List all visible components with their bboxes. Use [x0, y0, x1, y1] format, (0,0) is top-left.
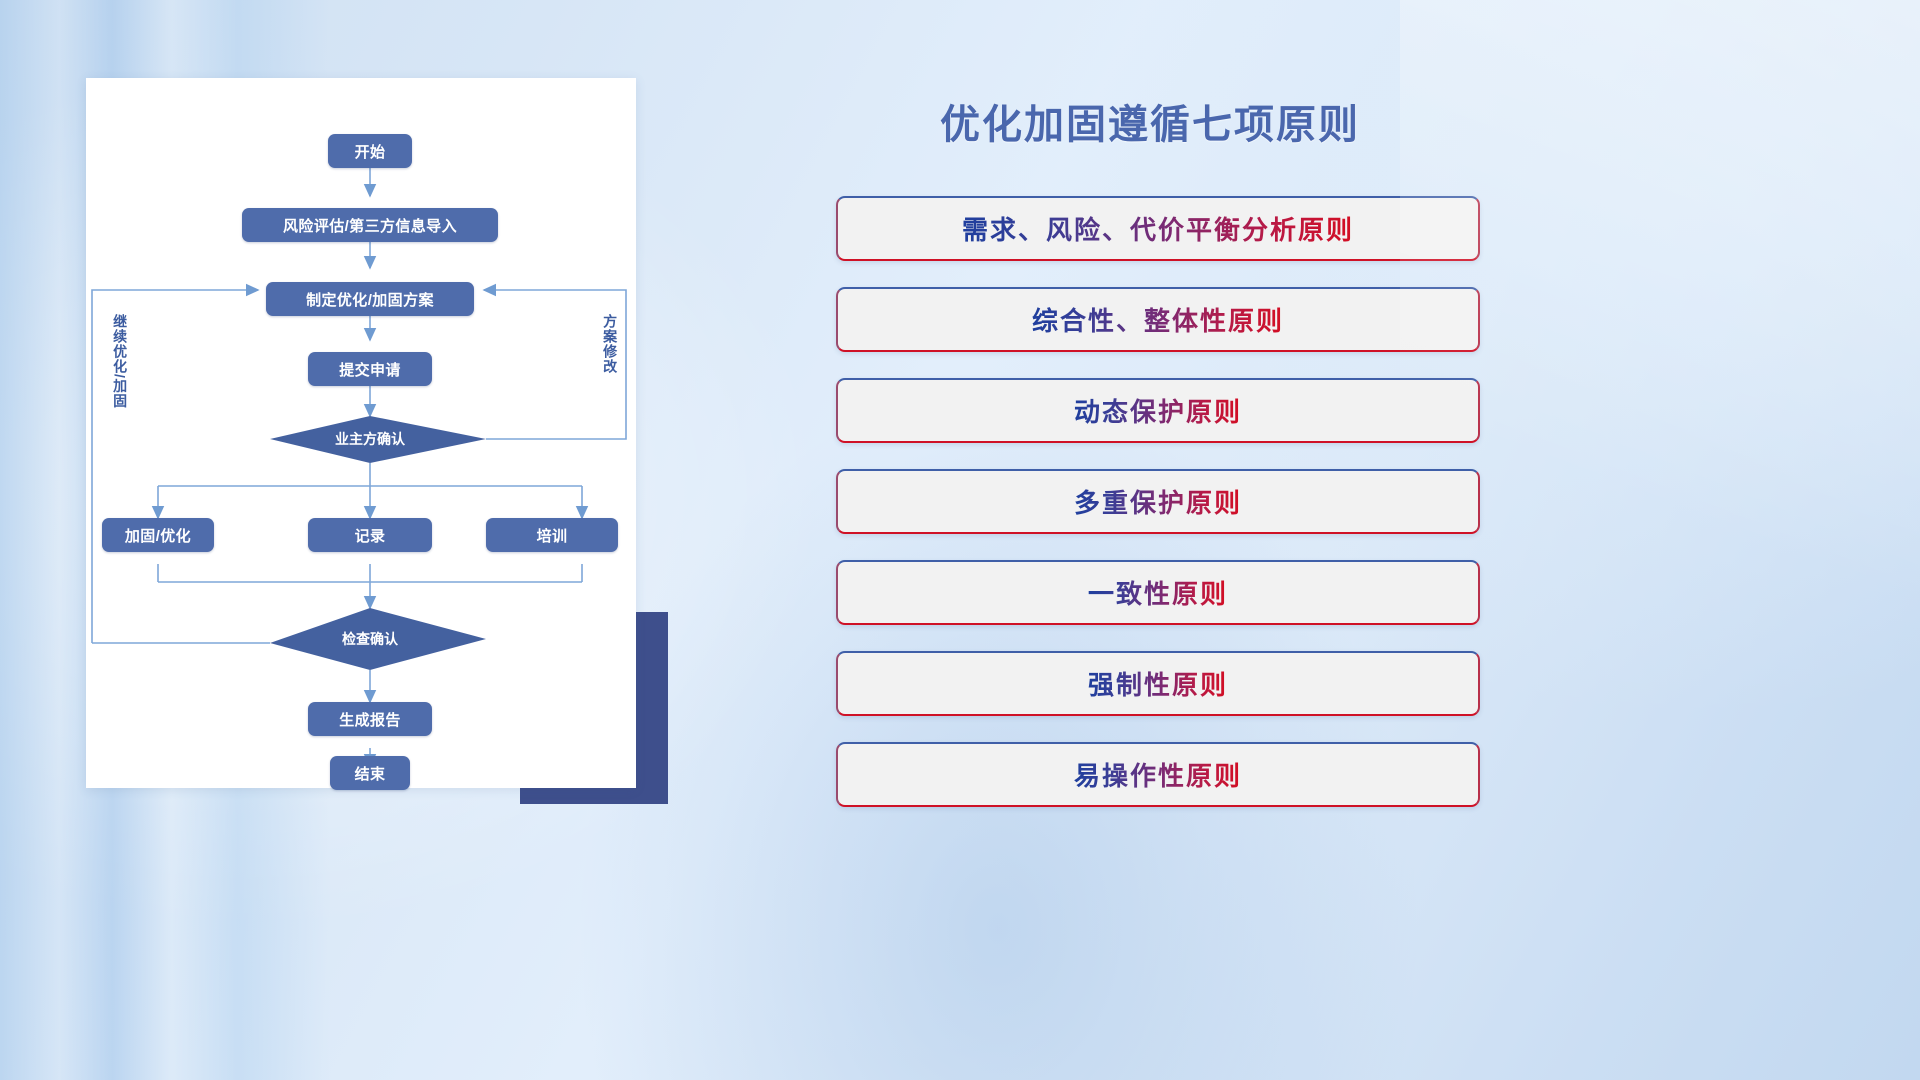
node-submit-application[interactable]: 提交申请 [308, 352, 432, 386]
principle-label: 强制性原则 [1088, 665, 1228, 702]
principle-label: 一致性原则 [1088, 574, 1228, 611]
node-training-label: 培训 [537, 525, 568, 546]
node-generate-report-label: 生成报告 [339, 709, 401, 730]
principle-label: 多重保护原则 [1074, 483, 1242, 520]
node-reinforce-optimize[interactable]: 加固/优化 [102, 518, 214, 552]
principle-card-5[interactable]: 一致性原则 [836, 560, 1480, 625]
flowchart-panel: 开始 风险评估/第三方信息导入 制定优化/加固方案 提交申请 业主方确认 加固/… [86, 78, 636, 788]
node-make-plan[interactable]: 制定优化/加固方案 [266, 282, 474, 316]
principle-label: 需求、风险、代价平衡分析原则 [962, 210, 1354, 247]
principle-card-4[interactable]: 多重保护原则 [836, 469, 1480, 534]
principle-label: 综合性、整体性原则 [1032, 301, 1284, 338]
principle-label: 动态保护原则 [1074, 392, 1242, 429]
node-record-label: 记录 [355, 525, 386, 546]
principle-card-6[interactable]: 强制性原则 [836, 651, 1480, 716]
principle-card-7[interactable]: 易操作性原则 [836, 742, 1480, 807]
slide-canvas: 开始 风险评估/第三方信息导入 制定优化/加固方案 提交申请 业主方确认 加固/… [0, 0, 1920, 1080]
node-reinforce-optimize-label: 加固/优化 [125, 525, 191, 546]
principle-card-1[interactable]: 需求、风险、代价平衡分析原则 [836, 196, 1480, 261]
node-end[interactable]: 结束 [330, 756, 410, 790]
node-risk-assessment[interactable]: 风险评估/第三方信息导入 [242, 208, 498, 242]
principle-card-3[interactable]: 动态保护原则 [836, 378, 1480, 443]
page-title: 优化加固遵循七项原则 [940, 92, 1360, 150]
node-submit-application-label: 提交申请 [339, 359, 401, 380]
node-risk-assessment-label: 风险评估/第三方信息导入 [283, 215, 457, 236]
node-make-plan-label: 制定优化/加固方案 [306, 289, 434, 310]
node-start-label: 开始 [355, 141, 386, 162]
principles-list: 需求、风险、代价平衡分析原则 综合性、整体性原则 动态保护原则 多重保护原则 一… [836, 196, 1480, 833]
decision-owner-confirm-label: 业主方确认 [270, 426, 470, 452]
node-end-label: 结束 [355, 763, 386, 784]
node-record[interactable]: 记录 [308, 518, 432, 552]
edge-label-plan-revision: 方案修改 [602, 314, 617, 374]
principle-card-2[interactable]: 综合性、整体性原则 [836, 287, 1480, 352]
decision-check-confirm-label: 检查确认 [270, 626, 470, 652]
edge-label-continue-optimize: 继续优化/加固 [112, 314, 127, 409]
node-start[interactable]: 开始 [328, 134, 412, 168]
node-training[interactable]: 培训 [486, 518, 618, 552]
principle-label: 易操作性原则 [1074, 756, 1242, 793]
node-generate-report[interactable]: 生成报告 [308, 702, 432, 736]
